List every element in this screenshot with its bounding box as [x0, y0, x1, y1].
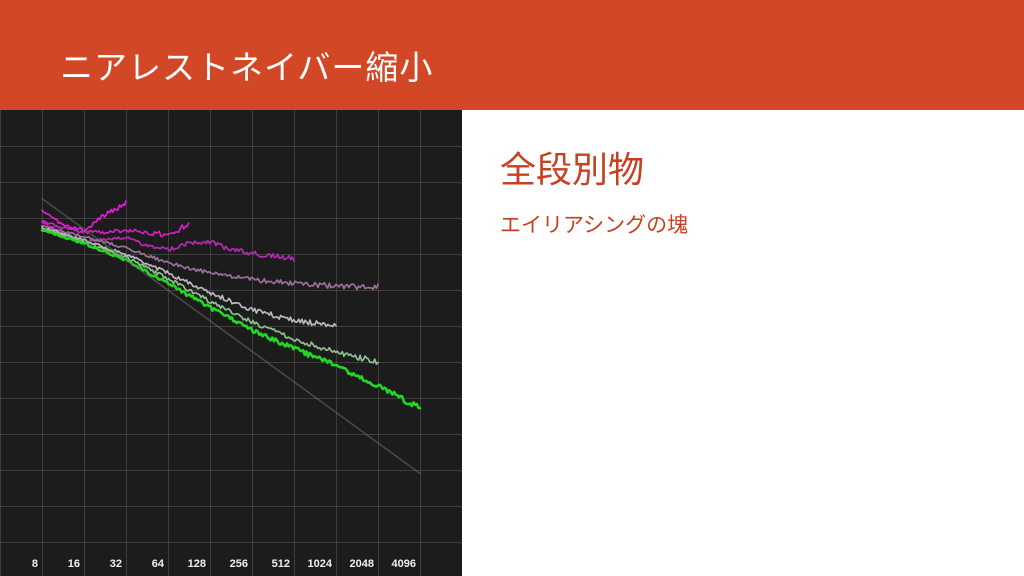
- x-axis-tick-label: 128: [188, 558, 206, 570]
- page-title: ニアレストネイバー縮小: [60, 48, 433, 88]
- title-banner: ニアレストネイバー縮小: [0, 0, 1024, 110]
- x-axis-tick-label: 4096: [392, 558, 416, 570]
- x-axis-tick-label: 512: [272, 558, 290, 570]
- x-axis-tick-label: 16: [68, 558, 80, 570]
- slide-root: ニアレストネイバー縮小 8163264128256512102420484096…: [0, 0, 1024, 576]
- body-heading: 全段別物: [500, 148, 644, 192]
- x-axis-tick-label: 256: [230, 558, 248, 570]
- chart-plot: [0, 110, 462, 576]
- x-axis-tick-label: 8: [32, 558, 38, 570]
- chart-panel: 8163264128256512102420484096: [0, 110, 462, 576]
- x-axis-tick-label: 1024: [308, 558, 332, 570]
- x-axis-tick-label: 2048: [350, 558, 374, 570]
- x-axis-tick-label: 32: [110, 558, 122, 570]
- body-text-panel: 全段別物 エイリアシングの塊: [462, 110, 1024, 576]
- x-axis-tick-label: 64: [152, 558, 164, 570]
- body-subtext: エイリアシングの塊: [500, 212, 688, 240]
